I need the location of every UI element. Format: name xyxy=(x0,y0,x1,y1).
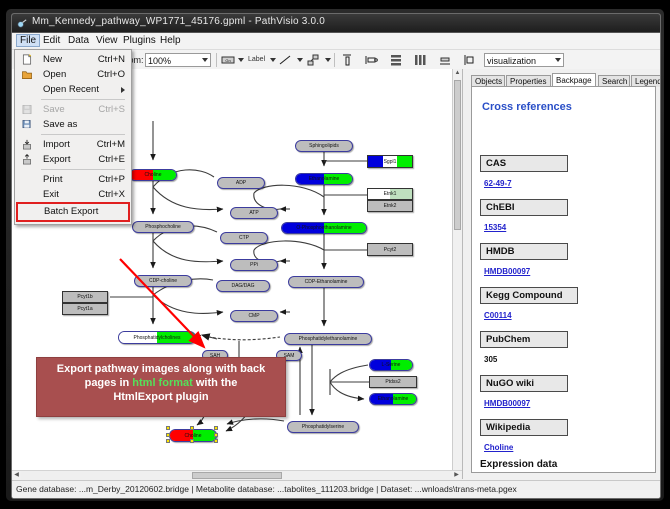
zoom-combo[interactable]: 100% xyxy=(145,53,211,67)
menu-item-export-label: Export xyxy=(43,154,70,165)
xref-link-cas[interactable]: 62-49-7 xyxy=(484,179,512,188)
metabolite-node-phosphatidylcholines[interactable]: Phosphatidylcholines xyxy=(118,331,196,344)
node-label: DAG/DAG xyxy=(231,283,254,289)
title-bar: Mm_Kennedy_pathway_WP1771_45176.gpml - P… xyxy=(12,14,660,33)
node-label: Etnk1 xyxy=(384,191,397,197)
save-as-icon xyxy=(21,119,33,130)
menu-item-exit-label: Exit xyxy=(43,189,59,200)
metabolite-node-ppi[interactable]: PPi xyxy=(230,259,278,271)
selection-handle[interactable] xyxy=(166,426,170,430)
align-left-icon[interactable] xyxy=(364,53,378,67)
menu-item-open-recent[interactable]: Open Recent xyxy=(15,82,131,97)
menu-item-export[interactable]: Export Ctrl+E xyxy=(15,152,131,167)
selection-handle[interactable] xyxy=(166,439,170,443)
selection-handle[interactable] xyxy=(214,439,218,443)
chevron-down-icon xyxy=(555,58,561,62)
callout-line-1: Export pathway images along with back xyxy=(43,362,279,376)
new-document-icon xyxy=(21,54,33,65)
interaction-tool-icon[interactable] xyxy=(306,53,320,67)
selection-handle[interactable] xyxy=(214,426,218,430)
xref-link-hmdb[interactable]: HMDB00097 xyxy=(484,267,530,276)
metabolite-node-l-serine[interactable]: L-Serine xyxy=(369,359,413,371)
gene-node-ptdss2[interactable]: Ptdss2 xyxy=(369,376,417,388)
menu-item-open-shortcut: Ctrl+O xyxy=(97,69,125,80)
callout-line-3: HtmlExport plugin xyxy=(43,390,279,404)
menu-item-batch-export[interactable]: Batch Export xyxy=(16,202,130,222)
gene-node-sgpl1[interactable]: Sgpl1 xyxy=(367,155,413,168)
menu-separator-1 xyxy=(41,99,125,100)
xref-name-cas: CAS xyxy=(480,155,568,172)
metabolite-node-cdp-choline[interactable]: CDP-choline xyxy=(134,275,192,287)
node-label: ATP xyxy=(249,210,258,216)
callout-line2-post: with the xyxy=(193,377,238,389)
metabolite-node-ethanolamine[interactable]: Ethanolamine xyxy=(295,173,353,185)
node-label: ADP xyxy=(236,180,246,186)
menu-item-print[interactable]: Print Ctrl+P xyxy=(15,172,131,187)
open-folder-icon xyxy=(21,69,33,80)
label-dropdown-arrow-icon[interactable] xyxy=(270,58,276,62)
xref-name-chebi: ChEBI xyxy=(480,199,568,216)
cross-references-heading: Cross references xyxy=(482,101,572,113)
menu-edit[interactable]: Edit xyxy=(39,34,64,47)
side-panel: Objects Properties Backpage Search Legen… xyxy=(463,69,660,479)
gene-node-etnk2[interactable]: Etnk2 xyxy=(367,200,413,212)
node-label: Pcyt2 xyxy=(384,247,397,253)
xref-value-pubchem: 305 xyxy=(484,355,497,364)
menu-bar: File Edit Data View Plugins Help xyxy=(12,33,660,50)
scroll-up-icon[interactable]: ▲ xyxy=(453,69,462,78)
node-label: O-Phosphoethanolamine xyxy=(296,225,351,231)
svg-text:Gn: Gn xyxy=(225,58,230,63)
chevron-down-icon xyxy=(202,58,208,62)
zoom-value: 100% xyxy=(148,56,171,66)
line-dropdown-arrow-icon[interactable] xyxy=(297,58,303,62)
node-label: Pcyt1b xyxy=(77,294,92,300)
selection-handle[interactable] xyxy=(166,433,170,437)
node-label: Ptdss2 xyxy=(385,379,400,385)
gene-node-pcyt1a[interactable]: Pcyt1a xyxy=(62,303,108,315)
menu-view[interactable]: View xyxy=(92,34,122,47)
node-label: Etnk2 xyxy=(384,203,397,209)
menu-separator-3 xyxy=(41,169,125,170)
canvas-vertical-scrollbar[interactable]: ▲ ▼ xyxy=(452,69,462,479)
distribute-horizontal-icon[interactable] xyxy=(413,53,427,67)
xref-name-nugo: NuGO wiki xyxy=(480,375,568,392)
menu-item-save: Save Ctrl+S xyxy=(15,102,131,117)
menu-item-exit-shortcut: Ctrl+X xyxy=(98,189,125,200)
node-label: Ethanolamine xyxy=(378,396,409,402)
metabolite-node-sphingolipids[interactable]: Sphingolipids xyxy=(295,140,353,152)
node-label: PPi xyxy=(250,262,258,268)
save-disk-icon xyxy=(21,104,33,115)
metabolite-node-dag-dag[interactable]: DAG/DAG xyxy=(216,280,270,292)
node-label: Pcyt1a xyxy=(77,306,92,312)
window-title: Mm_Kennedy_pathway_WP1771_45176.gpml - P… xyxy=(32,16,325,27)
menu-item-exit[interactable]: Exit Ctrl+X xyxy=(15,187,131,202)
node-label: CMP xyxy=(248,313,259,319)
menu-item-print-label: Print xyxy=(43,174,63,185)
metabolite-node-adp[interactable]: ADP xyxy=(217,177,265,189)
selection-handle[interactable] xyxy=(190,426,194,430)
node-label: Phosphocholine xyxy=(145,224,181,230)
menu-item-export-shortcut: Ctrl+E xyxy=(98,154,125,165)
pathvisio-app-icon xyxy=(17,18,28,29)
metabolite-node-o-phosphoethanolamine[interactable]: O-Phosphoethanolamine xyxy=(281,222,367,234)
callout-line2-highlight: html format xyxy=(132,377,193,389)
visualization-combo[interactable]: visualization xyxy=(484,53,564,67)
node-label: L-Serine xyxy=(382,362,401,368)
menu-plugins[interactable]: Plugins xyxy=(119,34,160,47)
menu-item-save-as[interactable]: Save as xyxy=(15,117,131,132)
metabolite-node-atp[interactable]: ATP xyxy=(230,207,278,219)
canvas-vscroll-thumb[interactable] xyxy=(454,80,461,230)
screenshot-root: Mm_Kennedy_pathway_WP1771_45176.gpml - P… xyxy=(0,0,670,509)
metabolite-node-phosphocholine[interactable]: Phosphocholine xyxy=(132,221,194,233)
datanode-tool-icon[interactable]: Gn xyxy=(221,53,235,67)
node-label: CDP-Ethanolamine xyxy=(305,279,348,285)
metabolite-node-phosphatidylserine[interactable]: Phosphatidylserine xyxy=(287,421,359,433)
node-label: Phosphatidylcholines xyxy=(134,335,181,341)
node-label: CTP xyxy=(239,235,249,241)
tab-backpage[interactable]: Backpage xyxy=(552,73,596,87)
application-window: Mm_Kennedy_pathway_WP1771_45176.gpml - P… xyxy=(6,9,664,501)
metabolite-node-phosphatidylethanolamine[interactable]: Phosphatidylethanolamine xyxy=(284,333,372,345)
node-label: CDP-choline xyxy=(149,278,177,284)
xref-link-wikipedia[interactable]: Choline xyxy=(484,443,513,452)
import-icon xyxy=(21,139,33,150)
export-icon xyxy=(21,154,33,165)
selection-handle[interactable] xyxy=(214,433,218,437)
callout-line-2: pages in html format with the xyxy=(43,376,279,390)
gene-node-etnk1[interactable]: Etnk1 xyxy=(367,188,413,200)
scroll-left-icon[interactable]: ◀ xyxy=(12,471,21,480)
annotation-callout: Export pathway images along with back pa… xyxy=(36,357,286,417)
selection-handle[interactable] xyxy=(190,439,194,443)
metabolite-node-cdp-ethanolamine[interactable]: CDP-Ethanolamine xyxy=(288,276,364,288)
datanode-dropdown-arrow-icon[interactable] xyxy=(238,58,244,62)
shape-dropdown-arrow-icon[interactable] xyxy=(325,58,331,62)
stack-icon[interactable] xyxy=(462,53,476,67)
xref-link-chebi[interactable]: 15354 xyxy=(484,223,506,232)
metabolite-node-ethanolamine[interactable]: Ethanolamine xyxy=(369,393,417,405)
menu-file[interactable]: File xyxy=(16,34,40,47)
node-label: Phosphatidylethanolamine xyxy=(299,336,358,342)
menu-item-save-label: Save xyxy=(43,104,65,115)
xref-name-pubchem: PubChem xyxy=(480,331,568,348)
menu-item-print-shortcut: Ctrl+P xyxy=(98,174,125,185)
file-menu-popup[interactable]: New Ctrl+N Open Ctrl+O Open Recent xyxy=(14,49,132,225)
label-tool-label: Label xyxy=(248,56,265,63)
xref-name-kegg: Kegg Compound xyxy=(480,287,578,304)
menu-item-import-label: Import xyxy=(43,139,70,150)
menu-help[interactable]: Help xyxy=(156,34,185,47)
status-bar: Gene database: ...m_Derby_20120602.bridg… xyxy=(12,480,660,498)
menu-item-open[interactable]: Open Ctrl+O xyxy=(15,67,131,82)
scroll-right-icon[interactable]: ▶ xyxy=(452,471,461,480)
node-label: Phosphatidylserine xyxy=(302,424,344,430)
node-label: Choline xyxy=(145,172,162,178)
xref-name-wikipedia: Wikipedia xyxy=(480,419,568,436)
metabolite-node-ctp[interactable]: CTP xyxy=(220,232,268,244)
node-label: Sgpl1 xyxy=(384,159,397,165)
window-content: Mm_Kennedy_pathway_WP1771_45176.gpml - P… xyxy=(11,13,661,499)
line-tool-icon[interactable] xyxy=(278,53,292,67)
node-label: Choline xyxy=(185,433,202,439)
menu-data[interactable]: Data xyxy=(64,34,93,47)
expression-data-heading: Expression data xyxy=(480,459,557,470)
gene-node-pcyt2[interactable]: Pcyt2 xyxy=(367,243,413,256)
menu-item-new-shortcut: Ctrl+N xyxy=(98,54,125,65)
menu-item-import-shortcut: Ctrl+M xyxy=(97,139,125,150)
menu-item-save-shortcut: Ctrl+S xyxy=(98,104,125,115)
distribute-vertical-icon[interactable] xyxy=(389,53,403,67)
visualization-value: visualization xyxy=(487,56,536,66)
chevron-right-icon xyxy=(121,87,125,93)
xref-link-nugo[interactable]: HMDB00097 xyxy=(484,399,530,408)
canvas-hscroll-thumb[interactable] xyxy=(192,472,282,479)
menu-item-import[interactable]: Import Ctrl+M xyxy=(15,137,131,152)
common-width-icon[interactable] xyxy=(438,53,452,67)
xref-name-hmdb: HMDB xyxy=(480,243,568,260)
menu-item-new-label: New xyxy=(43,54,62,65)
gene-node-pcyt1b[interactable]: Pcyt1b xyxy=(62,291,108,303)
callout-line2-pre: pages in xyxy=(85,377,133,389)
backpage-panel: Cross references CAS 62-49-7 ChEBI 15354… xyxy=(471,86,656,473)
menu-item-new[interactable]: New Ctrl+N xyxy=(15,52,131,67)
align-top-icon[interactable] xyxy=(340,53,354,67)
node-label: Sphingolipids xyxy=(309,143,339,149)
menu-item-save-as-label: Save as xyxy=(43,119,77,130)
node-label: Ethanolamine xyxy=(309,176,340,182)
menu-separator-2 xyxy=(41,134,125,135)
metabolite-node-choline[interactable]: Choline xyxy=(129,169,177,181)
menu-item-open-recent-label: Open Recent xyxy=(43,84,99,95)
xref-link-kegg[interactable]: C00114 xyxy=(484,311,512,320)
metabolite-node-cmp[interactable]: CMP xyxy=(230,310,278,322)
menu-item-batch-export-label: Batch Export xyxy=(44,206,98,217)
status-text: Gene database: ...m_Derby_20120602.bridg… xyxy=(16,484,517,494)
menu-item-open-label: Open xyxy=(43,69,66,80)
